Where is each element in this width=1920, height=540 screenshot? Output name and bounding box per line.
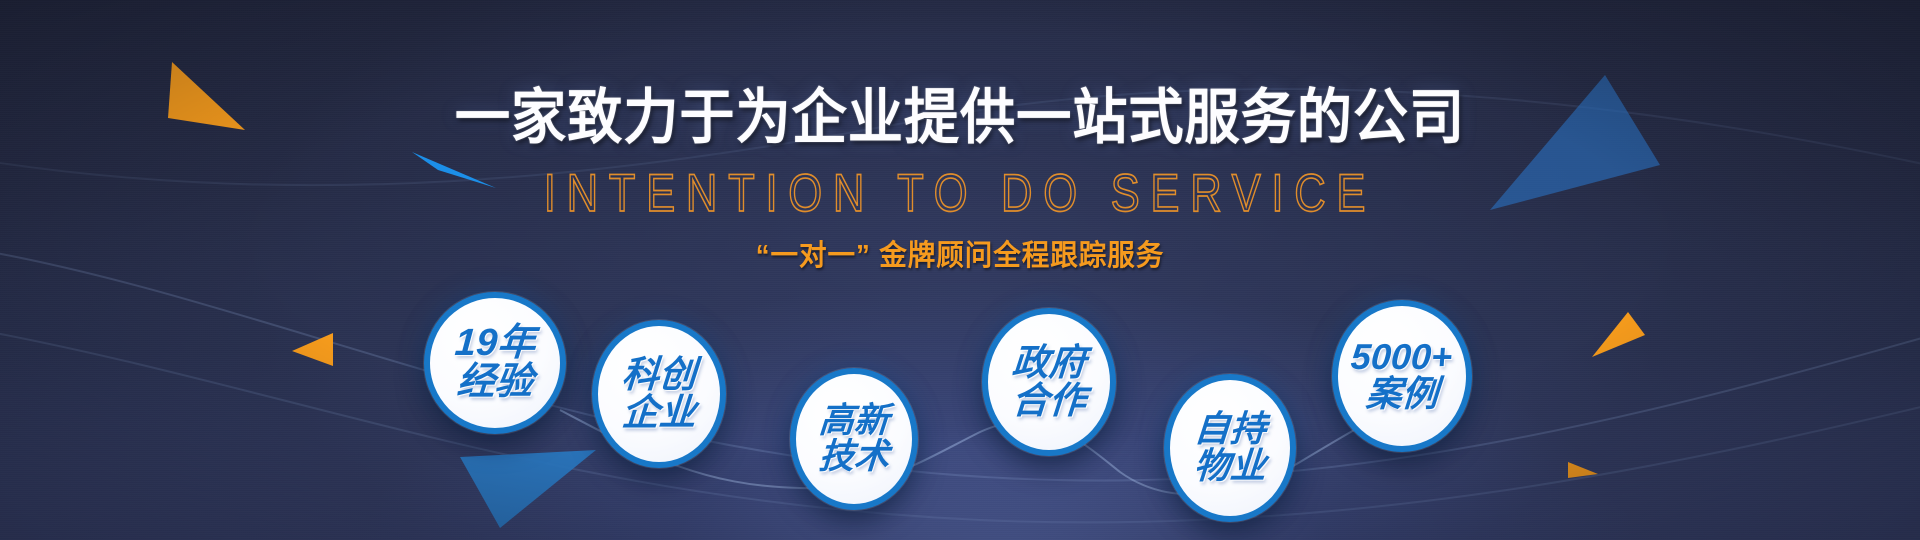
badge-line-1: 自持 [1193, 411, 1268, 448]
badge-innovation[interactable]: 科创 企业 [592, 320, 726, 468]
promo-banner: 一家致力于为企业提供一站式服务的公司 INTENTION TO DO SERVI… [0, 0, 1920, 540]
badge-government[interactable]: 政府 合作 [982, 308, 1116, 456]
badge-line-2: 案例 [1365, 376, 1440, 413]
triangle-blue-bottom-left [460, 450, 596, 528]
badge-line-1: 科创 [621, 356, 698, 394]
badge-line-2: 经验 [456, 363, 535, 402]
badge-line-2: 合作 [1011, 382, 1088, 420]
subtitle-chinese: “一对一” 金牌顾问全程跟踪服务 [48, 242, 1872, 271]
badge-line-1: 5000+ [1350, 339, 1454, 376]
triangle-orange-right [1592, 312, 1645, 357]
triangle-orange-lower-right [1568, 462, 1598, 478]
badge-experience[interactable]: 19年 经验 [424, 292, 566, 434]
badge-line-2: 物业 [1193, 448, 1268, 485]
badge-line-1: 政府 [1011, 344, 1088, 382]
badge-line-1: 19年 [454, 324, 537, 363]
badge-cases[interactable]: 5000+ 案例 [1332, 300, 1472, 452]
badge-line-2: 技术 [818, 439, 891, 475]
badge-line-2: 企业 [621, 394, 698, 432]
subtitle-english: INTENTION TO DO SERVICE [29, 166, 1891, 219]
page-title: 一家致力于为企业提供一站式服务的公司 [77, 88, 1843, 148]
badge-line-1: 高新 [818, 403, 891, 439]
triangle-orange-mid-left [292, 333, 333, 366]
badge-hightech[interactable]: 高新 技术 [790, 368, 918, 510]
badge-property[interactable]: 自持 物业 [1164, 374, 1296, 522]
